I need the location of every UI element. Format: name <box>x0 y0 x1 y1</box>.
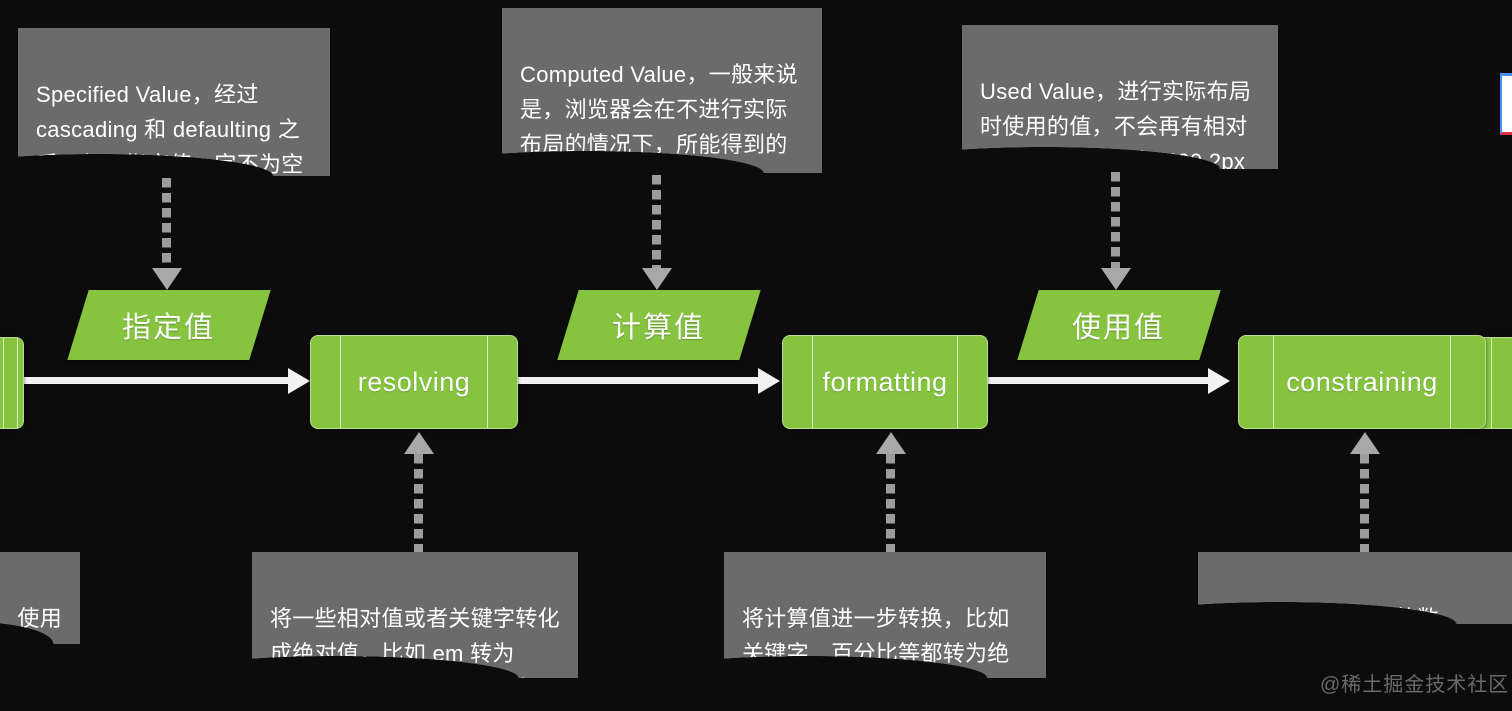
value-node-computed-label: 计算值 <box>612 304 705 346</box>
annotation-note-clipped-text: 使用 <box>0 601 62 636</box>
dashed-arrowhead-constraining <box>1350 432 1380 454</box>
process-node-formatting[interactable]: formatting <box>782 335 988 429</box>
flow-line-1 <box>22 377 292 384</box>
dashed-arrowhead-specified <box>152 268 182 290</box>
flow-arrowhead-2 <box>758 368 780 394</box>
dashed-arrowhead-resolving <box>404 432 434 454</box>
annotation-note-specified: Specified Value，经过 cascading 和 defaultin… <box>18 28 330 176</box>
annotation-note-resolving-text: 将一些相对值或者关键字转化成绝对值，比如 em 转为 px，相对路径转为绝对路径 <box>270 601 560 706</box>
value-node-used[interactable]: 使用值 <box>1017 290 1220 360</box>
process-node-clipped-left <box>0 337 24 429</box>
flow-line-2 <box>518 377 762 384</box>
process-node-constraining[interactable]: constraining <box>1238 335 1486 429</box>
dashed-connector-resolving <box>414 454 423 552</box>
annotation-note-formatting-text: 将计算值进一步转换，比如关键字、百分比等都转为绝对值 <box>742 601 1028 706</box>
dashed-connector-computed <box>652 175 661 270</box>
process-node-resolving[interactable]: resolving <box>310 335 518 429</box>
value-node-computed[interactable]: 计算值 <box>557 290 760 360</box>
dashed-connector-used <box>1111 172 1120 270</box>
annotation-note-formatting: 将计算值进一步转换，比如关键字、百分比等都转为绝对值 <box>724 552 1046 678</box>
annotation-note-constraining-text: 将小数像素值转为整数 <box>1216 601 1496 636</box>
annotation-note-computed-text: Computed Value，一般来说是，浏览器会在不进行实际布局的情况下，所能… <box>520 57 804 197</box>
value-node-used-label: 使用值 <box>1072 304 1165 346</box>
annotation-note-used-text: Used Value，进行实际布局时使用的值，不会再有相对值或关键字。比如 40… <box>980 74 1260 179</box>
process-node-constraining-label: constraining <box>1286 367 1438 398</box>
annotation-note-used: Used Value，进行实际布局时使用的值，不会再有相对值或关键字。比如 40… <box>962 25 1278 169</box>
flow-arrowhead-1 <box>288 368 310 394</box>
diagram-canvas: Specified Value，经过 cascading 和 defaultin… <box>0 0 1512 711</box>
annotation-note-clipped: 使用 <box>0 552 80 644</box>
value-node-specified[interactable]: 指定值 <box>67 290 270 360</box>
dashed-connector-constraining <box>1360 454 1369 552</box>
value-node-specified-label: 指定值 <box>122 304 215 346</box>
watermark-label: @稀土掘金技术社区 <box>1320 668 1509 697</box>
flow-line-3 <box>988 377 1210 384</box>
annotation-note-specified-text: Specified Value，经过 cascading 和 defaultin… <box>36 77 312 182</box>
dashed-arrowhead-computed <box>642 268 672 290</box>
dashed-arrowhead-formatting <box>876 432 906 454</box>
annotation-note-computed: Computed Value，一般来说是，浏览器会在不进行实际布局的情况下，所能… <box>502 8 822 173</box>
dashed-connector-specified <box>162 178 171 270</box>
flow-arrowhead-3 <box>1208 368 1230 394</box>
dashed-connector-formatting <box>886 454 895 552</box>
annotation-note-constraining: 将小数像素值转为整数 <box>1198 552 1512 624</box>
annotation-note-resolving: 将一些相对值或者关键字转化成绝对值，比如 em 转为 px，相对路径转为绝对路径 <box>252 552 578 678</box>
edge-panel-sliver <box>1500 73 1512 135</box>
process-node-formatting-label: formatting <box>822 367 947 398</box>
dashed-arrowhead-used <box>1101 268 1131 290</box>
process-node-resolving-label: resolving <box>358 367 471 398</box>
